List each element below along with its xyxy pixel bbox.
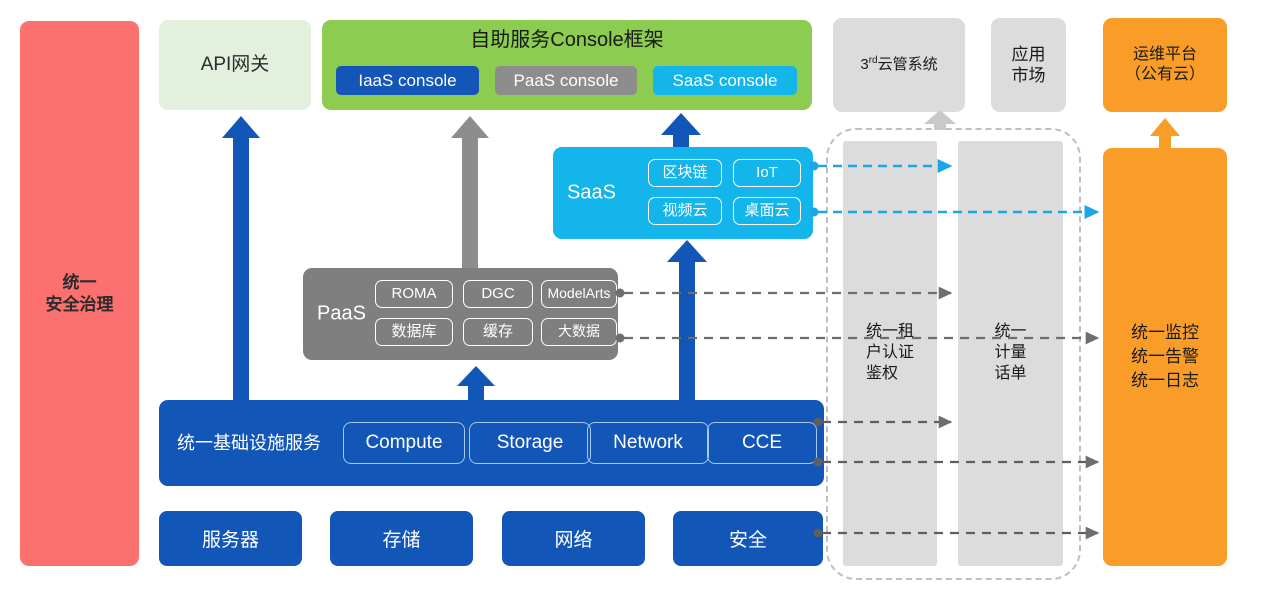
arrow-infra-to-saas: [667, 240, 707, 400]
paas-item-dgc[interactable]: DGC: [463, 280, 533, 308]
paas-item-roma[interactable]: ROMA: [375, 280, 453, 308]
third-party-label: 3rd云管系统: [860, 55, 937, 75]
security-governance-line1: 统一: [46, 272, 114, 293]
saas-item-desktop-cloud[interactable]: 桌面云: [733, 197, 801, 225]
saas-item-video-cloud-label: 视频云: [662, 202, 707, 221]
unified-metering-line2: 计量: [994, 343, 1026, 364]
infra-item-network[interactable]: Network: [587, 422, 709, 464]
saas-console-pill[interactable]: SaaS console: [653, 66, 797, 95]
unified-tenant-auth-line2: 户认证: [866, 343, 914, 364]
saas-item-iot-label: IoT: [756, 164, 778, 183]
ops-platform-line2: （公有云）: [1125, 65, 1205, 85]
unified-infrastructure-label: 统一基础设施服务: [177, 432, 321, 455]
security-governance-line2: 安全治理: [46, 294, 114, 315]
paas-item-database[interactable]: 数据库: [375, 318, 453, 346]
app-market-line1: 应用: [1012, 44, 1046, 65]
saas-item-blockchain[interactable]: 区块链: [648, 159, 722, 187]
saas-item-blockchain-label: 区块链: [662, 164, 707, 183]
saas-item-video-cloud[interactable]: 视频云: [648, 197, 722, 225]
paas-item-roma-label: ROMA: [392, 285, 437, 304]
unified-metering-line1: 统一: [994, 322, 1026, 343]
arrow-paas-to-console: [451, 116, 489, 268]
infra-item-compute-label: Compute: [365, 431, 442, 455]
arrow-infra-to-paas: [457, 366, 495, 400]
unified-tenant-auth-line3: 鉴权: [866, 364, 914, 385]
saas-item-desktop-cloud-label: 桌面云: [744, 202, 789, 221]
paas-console-pill[interactable]: PaaS console: [495, 66, 637, 95]
architecture-diagram: 统一 安全治理 API网关 自助服务Console框架 IaaS console…: [0, 0, 1265, 605]
infra-item-network-label: Network: [613, 431, 683, 455]
api-gateway-box: API网关: [159, 20, 311, 110]
iaas-console-pill[interactable]: IaaS console: [336, 66, 479, 95]
unified-monitoring-line2: 统一告警: [1131, 345, 1199, 369]
saas-layer-label: SaaS: [567, 181, 616, 206]
unified-metering-line3: 话单: [994, 364, 1026, 385]
unified-metering-column: 统一 计量 话单: [958, 141, 1063, 566]
paas-item-cache-label: 缓存: [483, 323, 513, 342]
api-gateway-label: API网关: [201, 53, 270, 77]
paas-item-database-label: 数据库: [391, 323, 436, 342]
self-service-console-frame: 自助服务Console框架 IaaS console PaaS console …: [322, 20, 812, 110]
ops-platform-line1: 运维平台: [1125, 45, 1205, 65]
saas-item-iot[interactable]: IoT: [733, 159, 801, 187]
paas-item-modelarts[interactable]: ModelArts: [541, 280, 617, 308]
paas-layer-label: PaaS: [317, 302, 366, 327]
infra-item-cce-label: CCE: [742, 431, 782, 455]
hardware-tile-network[interactable]: 网络: [502, 511, 645, 566]
infra-item-compute[interactable]: Compute: [343, 422, 465, 464]
hardware-tile-storage-label: 存储: [382, 525, 420, 552]
paas-item-modelarts-label: ModelArts: [547, 285, 610, 303]
console-frame-title: 自助服务Console框架: [322, 28, 812, 53]
hardware-tile-server[interactable]: 服务器: [159, 511, 302, 566]
paas-item-dgc-label: DGC: [481, 285, 514, 304]
paas-layer: PaaS ROMA DGC ModelArts 数据库 缓存 大数据: [303, 268, 618, 360]
third-party-prefix: 3: [860, 56, 868, 73]
infra-item-storage-label: Storage: [497, 431, 564, 455]
arrow-saas-to-console: [661, 113, 701, 147]
unified-tenant-auth-column: 统一租 户认证 鉴权: [843, 141, 937, 566]
iaas-console-label: IaaS console: [358, 70, 456, 91]
hardware-tile-storage[interactable]: 存储: [330, 511, 473, 566]
third-party-suffix: 云管系统: [878, 56, 938, 73]
infra-item-storage[interactable]: Storage: [469, 422, 591, 464]
paas-item-bigdata[interactable]: 大数据: [541, 318, 617, 346]
saas-layer: SaaS 区块链 IoT 视频云 桌面云: [553, 147, 813, 239]
third-party-sup: rd: [869, 55, 878, 66]
infra-item-cce[interactable]: CCE: [707, 422, 817, 464]
hardware-tile-network-label: 网络: [554, 525, 592, 552]
hardware-tile-server-label: 服务器: [202, 525, 259, 552]
unified-infrastructure-bar: 统一基础设施服务 Compute Storage Network CCE: [159, 400, 824, 486]
paas-item-cache[interactable]: 缓存: [463, 318, 533, 346]
security-governance-pillar: 统一 安全治理: [20, 21, 139, 566]
app-market-box: 应用 市场: [991, 18, 1066, 112]
third-party-cloud-mgmt-box: 3rd云管系统: [833, 18, 965, 112]
paas-item-bigdata-label: 大数据: [558, 323, 600, 341]
unified-tenant-auth-line1: 统一租: [866, 322, 914, 343]
arrow-infra-to-api-gateway: [222, 116, 260, 400]
unified-monitoring-line3: 统一日志: [1131, 369, 1199, 393]
unified-monitoring-line1: 统一监控: [1131, 321, 1199, 345]
unified-monitoring-pillar: 统一监控 统一告警 统一日志: [1103, 148, 1227, 566]
arrow-shared-to-third-party: [924, 110, 956, 130]
app-market-line2: 市场: [1012, 65, 1046, 86]
arrow-monitoring-to-ops-platform: [1150, 118, 1180, 148]
hardware-tile-security-label: 安全: [729, 525, 767, 552]
hardware-tile-security[interactable]: 安全: [673, 511, 823, 566]
paas-console-label: PaaS console: [514, 70, 619, 91]
ops-platform-box: 运维平台 （公有云）: [1103, 18, 1227, 112]
saas-console-label: SaaS console: [673, 70, 778, 91]
